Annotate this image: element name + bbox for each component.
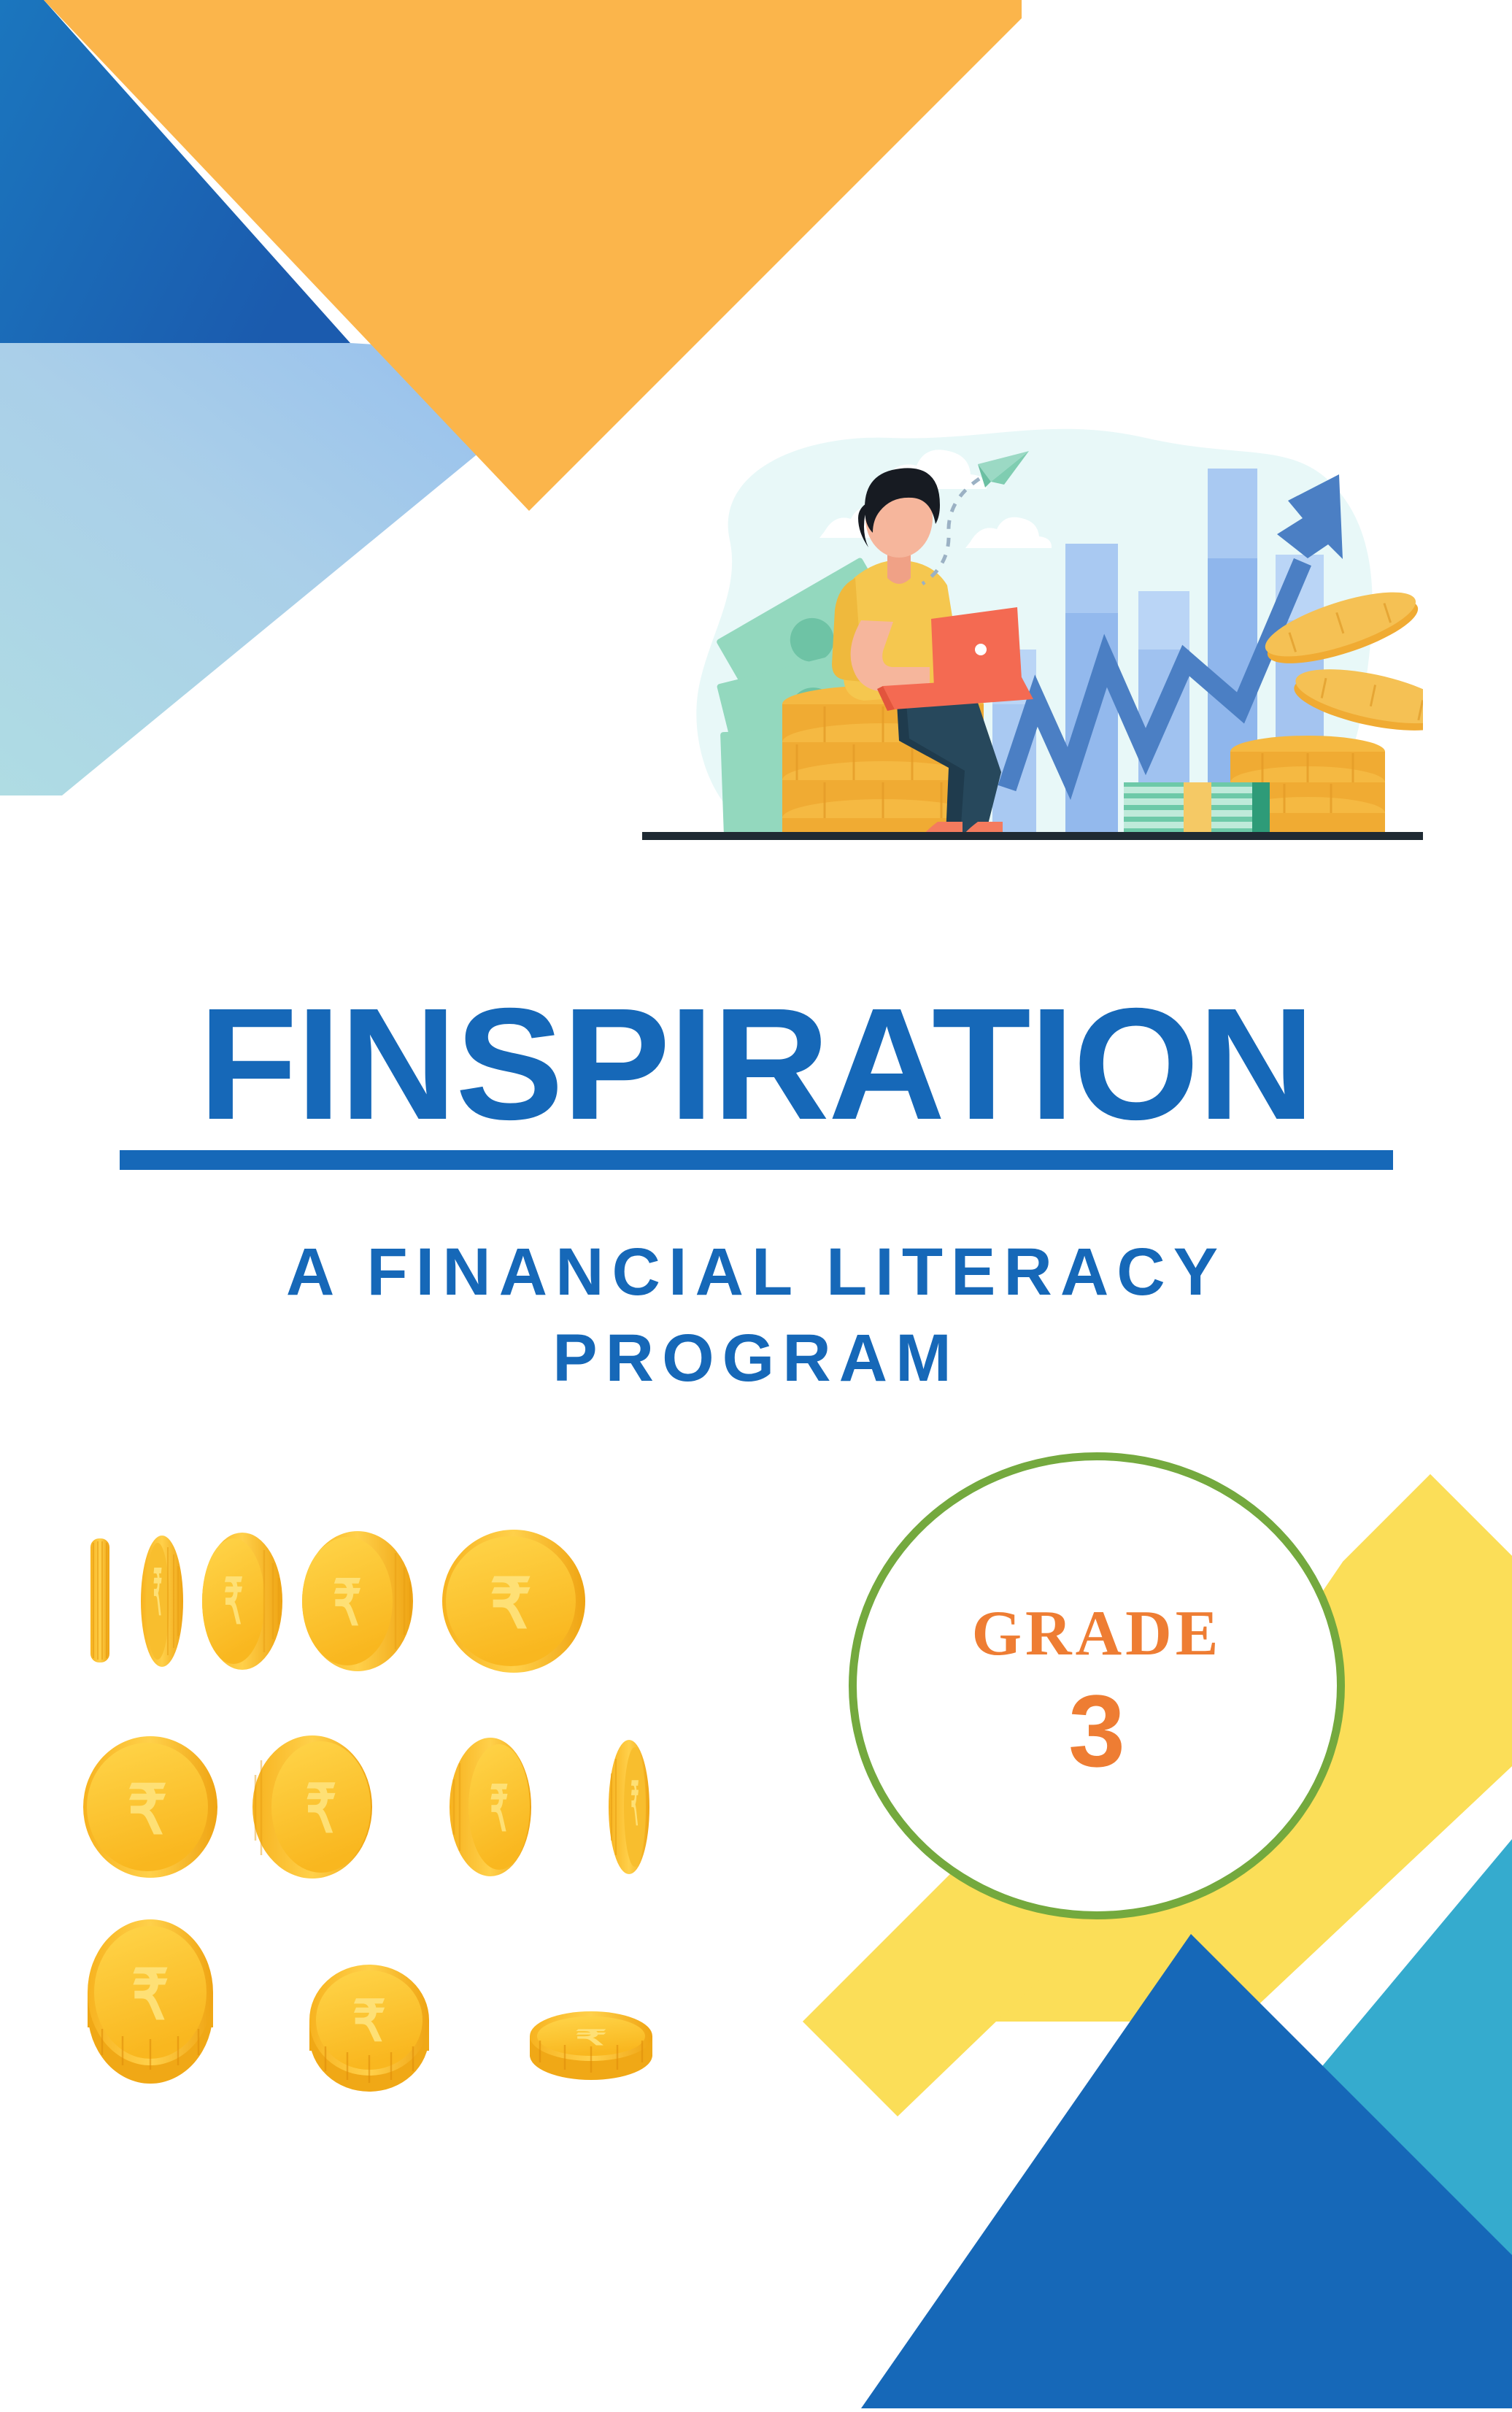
subtitle-line-2: PROGRAM xyxy=(0,1316,1512,1402)
coins-svg: ₹ xyxy=(80,1525,722,2109)
coin-standing-round xyxy=(309,1965,429,2092)
subtitle-line-1: A FINANCIAL LITERACY xyxy=(0,1230,1512,1316)
coin-near-edge xyxy=(141,1536,183,1667)
hero-svg: $ xyxy=(642,409,1423,876)
coin-face-on xyxy=(442,1530,585,1673)
title-block: FINSPIRATION A FINANCIAL LITERACY PROGRA… xyxy=(0,989,1512,1402)
hero-illustration: $ xyxy=(642,409,1423,876)
ground-line xyxy=(642,832,1423,840)
coin-oval-mid xyxy=(252,1735,372,1879)
banknote-bundle xyxy=(1124,782,1270,836)
subtitle-block: A FINANCIAL LITERACY PROGRAM xyxy=(0,1230,1512,1402)
coin-standing-tall xyxy=(88,1919,213,2084)
coin-edge-on xyxy=(90,1538,109,1662)
coin-sliver-right xyxy=(609,1740,649,1874)
grade-badge: GRADE 3 xyxy=(849,1452,1345,1919)
coin-oval-narrow xyxy=(450,1738,531,1876)
coin-tilted-narrow xyxy=(202,1533,282,1670)
rupee-coins-grid: ₹ xyxy=(80,1525,722,2109)
page-title: FINSPIRATION xyxy=(198,989,1314,1140)
title-underline xyxy=(120,1150,1393,1170)
coin-face-left xyxy=(83,1736,217,1878)
coin-lying-flat xyxy=(530,2011,652,2080)
grade-label: GRADE xyxy=(849,1597,1345,1671)
coin-tilted-wide xyxy=(302,1531,413,1671)
grade-number: 3 xyxy=(849,1680,1345,1782)
